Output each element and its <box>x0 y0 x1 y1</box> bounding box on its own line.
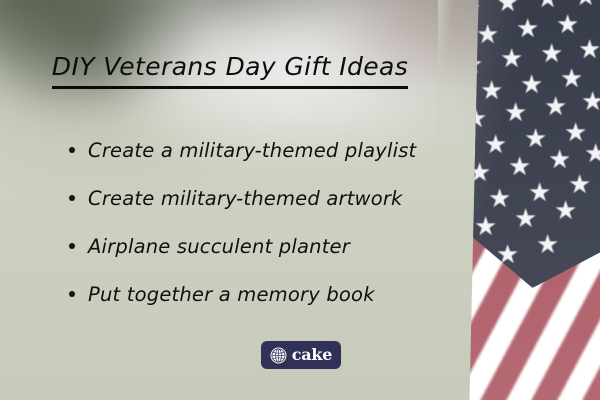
bullet-icon <box>69 243 75 249</box>
bullet-icon <box>69 291 75 297</box>
list-item: Put together a memory book <box>66 270 456 318</box>
gift-ideas-list: Create a military-themed playlist Create… <box>66 126 456 318</box>
list-item-label: Airplane succulent planter <box>88 235 350 258</box>
bullet-icon <box>69 195 75 201</box>
list-item: Airplane succulent planter <box>66 222 456 270</box>
bullet-icon <box>69 147 75 153</box>
text-content-area: DIY Veterans Day Gift Ideas Create a mil… <box>0 0 460 400</box>
cake-wordmark: cake <box>292 347 333 363</box>
cake-logo-badge[interactable]: cake <box>261 341 341 369</box>
list-item: Create a military-themed playlist <box>66 126 456 174</box>
cake-globe-monogram-icon <box>270 347 287 364</box>
list-item-label: Create a military-themed playlist <box>88 139 416 162</box>
list-item: Create military-themed artwork <box>66 174 456 222</box>
page-title: DIY Veterans Day Gift Ideas <box>52 52 408 89</box>
list-item-label: Create military-themed artwork <box>88 187 403 210</box>
list-item-label: Put together a memory book <box>88 283 375 306</box>
title-container: DIY Veterans Day Gift Ideas <box>0 52 460 89</box>
veterans-day-gift-ideas-graphic: ★ ★ ★ ★ ★ ★ ★ ★ ★ ★ ★ ★ ★ ★ ★ ★ ★ ★ ★ ★ … <box>0 0 600 400</box>
